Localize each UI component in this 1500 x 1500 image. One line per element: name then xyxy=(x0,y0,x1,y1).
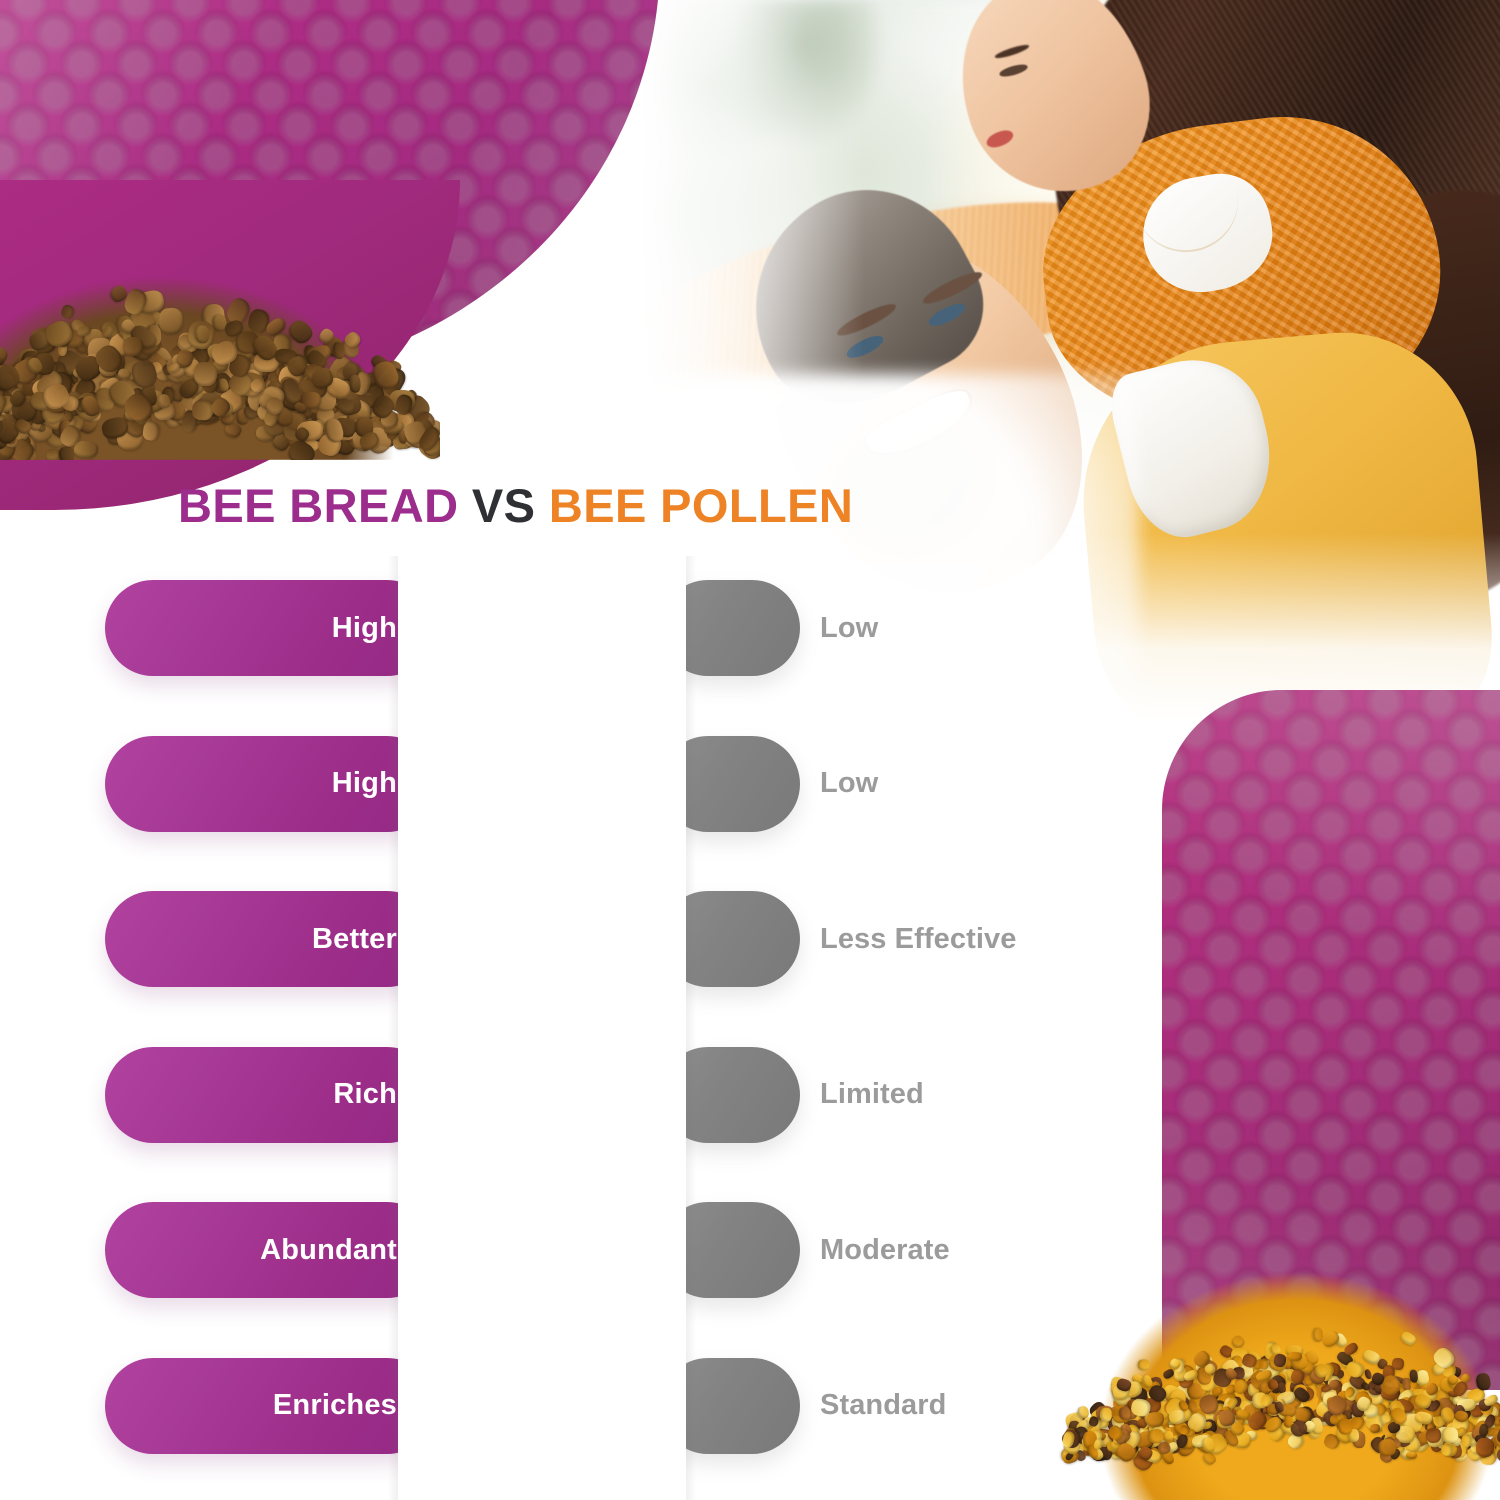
bee-pollen-value-label: Low xyxy=(820,580,878,676)
bee-pollen-value-label: Limited xyxy=(820,1047,924,1143)
bee-bread-value-label: Enriches xyxy=(273,1389,397,1422)
bee-bread-value-pill: Better xyxy=(105,891,435,987)
table-row: HighVitamin CLow xyxy=(0,736,1500,832)
title-left-term: BEE BREAD xyxy=(178,479,458,532)
table-row: EnrichesCalciumStandard xyxy=(0,1358,1500,1454)
center-divider-column xyxy=(398,556,686,1500)
table-row: RichAntioxidantsLimited xyxy=(0,1047,1500,1143)
bee-bread-value-label: Abundant xyxy=(260,1234,397,1267)
bee-pollen-value-label: Low xyxy=(820,736,878,832)
bee-pollen-value-label: Standard xyxy=(820,1358,947,1454)
bee-bread-value-pill: Abundant xyxy=(105,1202,435,1298)
title-vs: VS xyxy=(472,479,536,532)
bee-bread-value-pill: High xyxy=(105,736,435,832)
table-row: BetterAbsorptionLess Effective xyxy=(0,891,1500,987)
bee-pollen-value-label: Moderate xyxy=(820,1202,950,1298)
comparison-table: HighProteinLowHighVitamin CLowBetterAbso… xyxy=(0,0,1500,1500)
bee-bread-value-pill: Rich xyxy=(105,1047,435,1143)
bee-bread-value-label: Better xyxy=(312,923,397,956)
bee-bread-value-pill: Enriches xyxy=(105,1358,435,1454)
bee-bread-value-pill: High xyxy=(105,580,435,676)
title-right-term: BEE POLLEN xyxy=(549,479,853,532)
bee-pollen-value-label: Less Effective xyxy=(820,891,1016,987)
table-row: AbundantVitamin BModerate xyxy=(0,1202,1500,1298)
infographic-canvas: BEE BREAD VS BEE POLLEN HighProteinLowHi… xyxy=(0,0,1500,1500)
table-row: HighProteinLow xyxy=(0,580,1500,676)
page-title: BEE BREAD VS BEE POLLEN xyxy=(178,478,853,533)
